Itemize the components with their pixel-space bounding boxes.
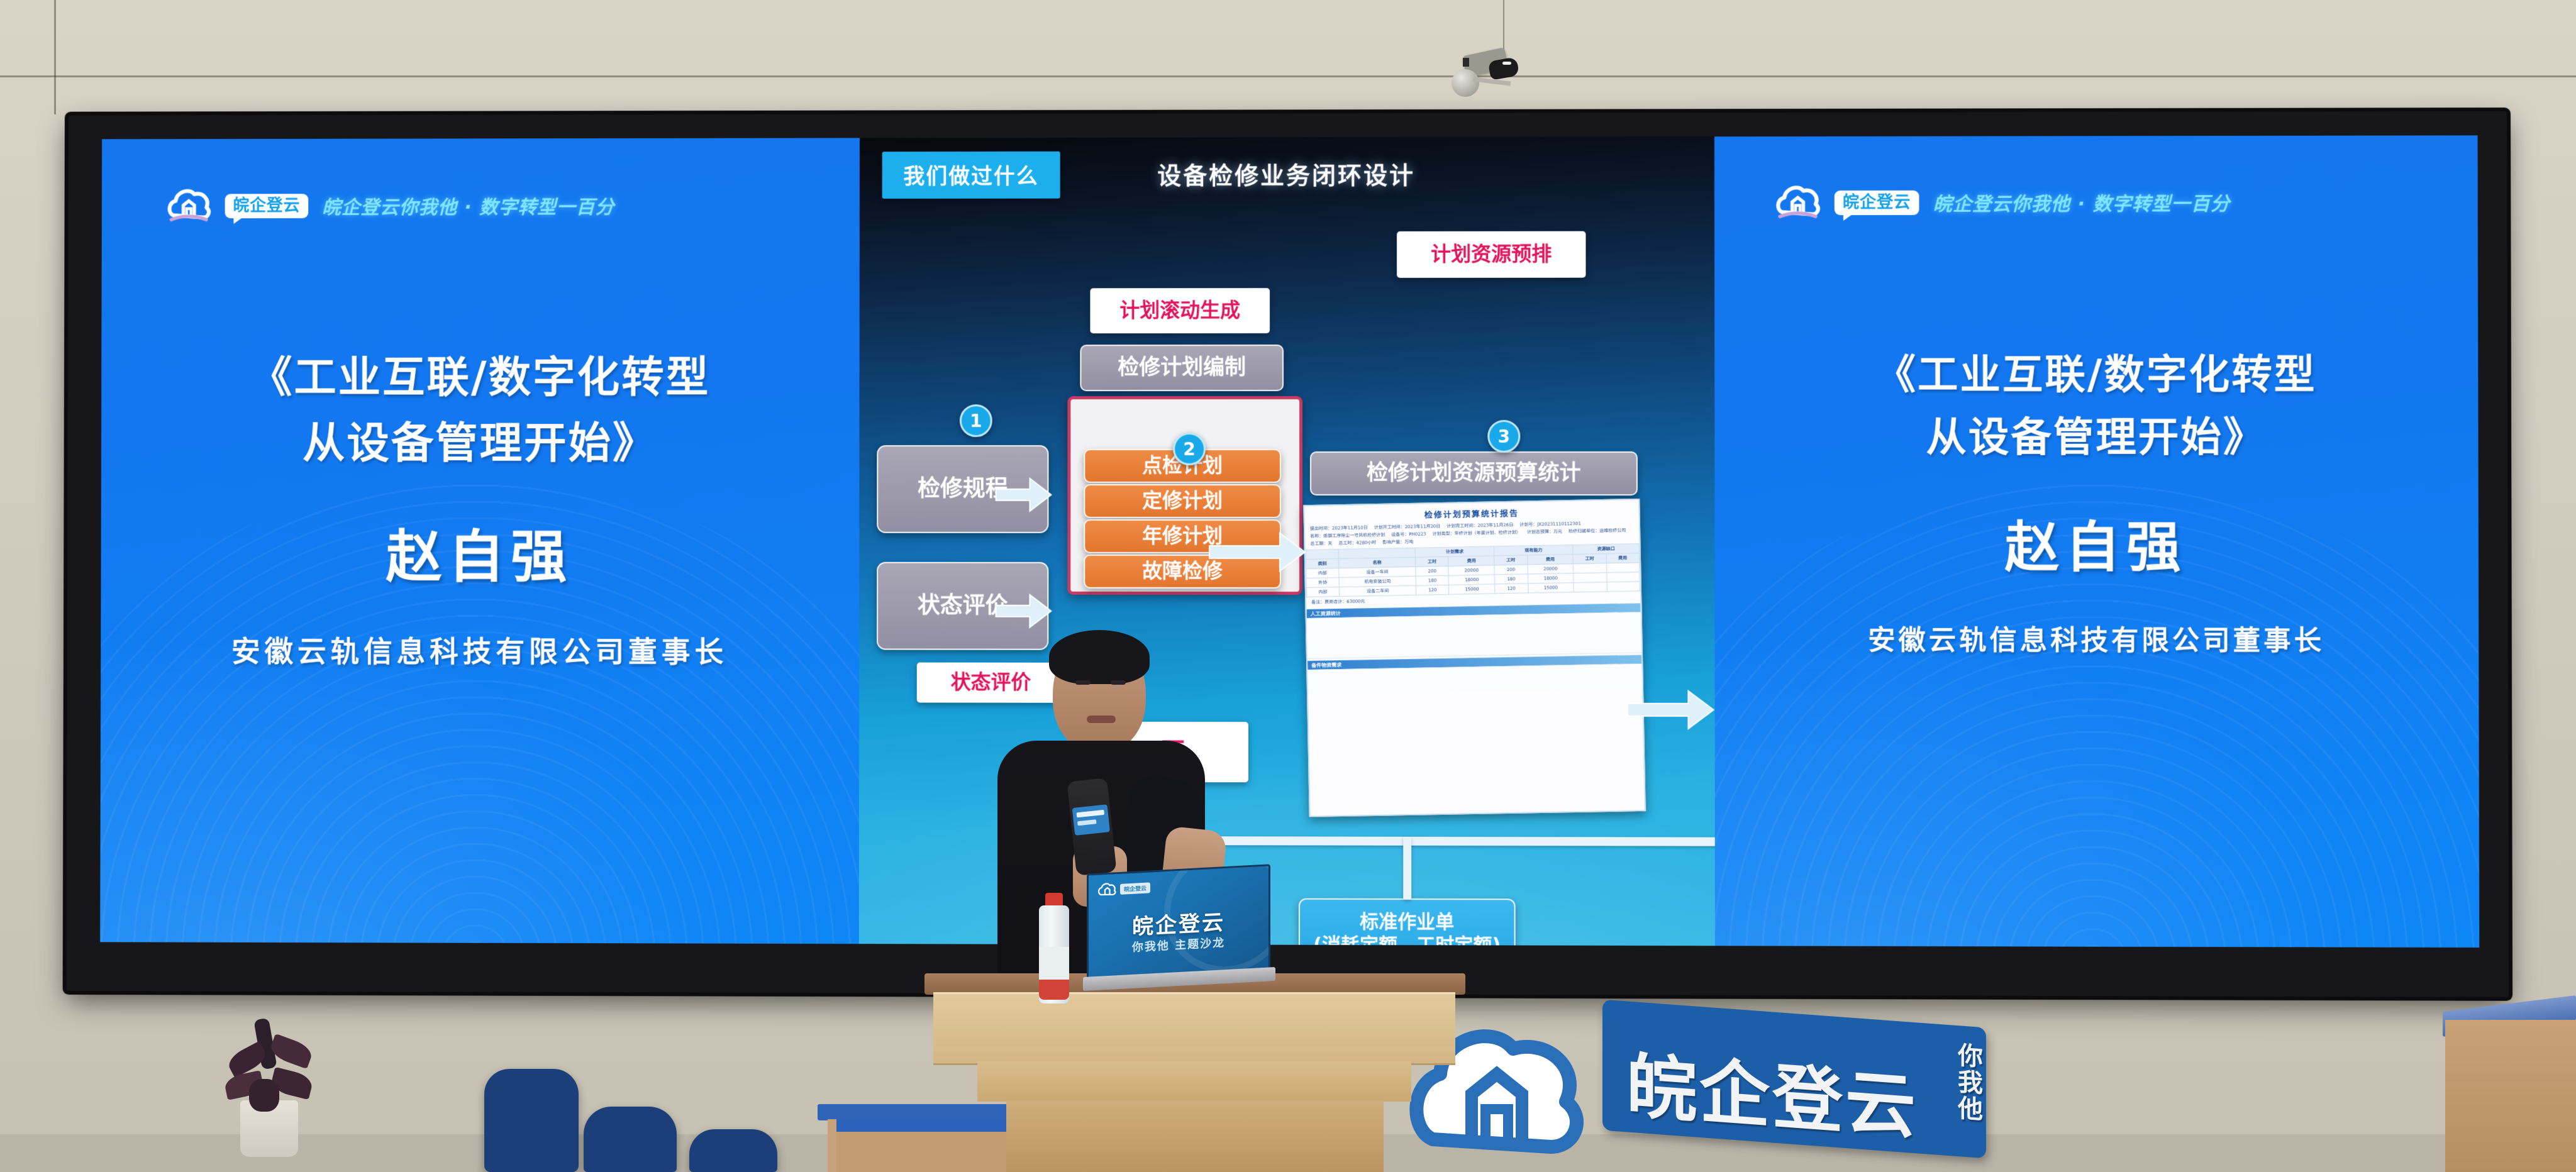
wall-seam-vertical-left (54, 0, 56, 114)
step-badge-3: 3 (1487, 420, 1520, 453)
right-panel-brand-row: 皖企登云 皖企登云你我他 · 数字转型一百分 (1775, 182, 2230, 222)
right-panel-speaker-name: 赵自强 (1714, 504, 2479, 583)
screenshot-root: 皖企登云 皖企登云你我他 · 数字转型一百分 《工业互联/数字化转型 从设备管理… (0, 0, 2576, 1172)
potted-plant (208, 1012, 333, 1157)
step-badge-2: 2 (1173, 433, 1206, 465)
audience-table-right (2428, 1003, 2576, 1172)
podium-front-panel (933, 992, 1455, 1065)
cloud-logo-icon (167, 187, 211, 226)
left-panel-brand-row: 皖企登云 皖企登云你我他 · 数字转型一百分 (167, 186, 615, 226)
podium-base (1006, 1100, 1384, 1172)
conference-chair-1 (484, 1069, 579, 1172)
cloud-logo-icon (1775, 183, 1820, 222)
led-video-wall: 皖企登云 皖企登云你我他 · 数字转型一百分 《工业互联/数字化转型 从设备管理… (67, 111, 2509, 997)
brand-tagline: 皖企登云你我他 · 数字转型一百分 (322, 192, 614, 219)
step-badge-1: 1 (960, 404, 992, 437)
left-panel-title-line2: 从设备管理开始》 (101, 411, 860, 477)
led-screen-content: 皖企登云 皖企登云你我他 · 数字转型一百分 《工业互联/数字化转型 从设备管理… (100, 135, 2479, 948)
wall-brand-sign: 皖企登云 你我他 (1402, 1003, 2044, 1172)
wooden-podium (924, 973, 1465, 1172)
right-panel-title-line2: 从设备管理开始》 (1714, 407, 2478, 470)
slide-title: 设备检修业务闭环设计 (860, 155, 1714, 191)
security-camera-icon (1440, 49, 1522, 99)
brand-tagline: 皖企登云你我他 · 数字转型一百分 (1933, 188, 2231, 216)
left-panel-body: 《工业互联/数字化转型 从设备管理开始》 赵自强 安徽云轨信息科技有限公司董事长 (101, 345, 859, 670)
presenter-hair (1049, 630, 1150, 684)
right-panel-body: 《工业互联/数字化转型 从设备管理开始》 赵自强 安徽云轨信息科技有限公司董事长 (1714, 344, 2479, 658)
right-panel-title-line1: 《工业互联/数字化转型 (1714, 344, 2478, 407)
podium-mid-panel (977, 1061, 1411, 1102)
brand-chip: 皖企登云 (1835, 190, 1919, 214)
left-title-panel: 皖企登云 皖企登云你我他 · 数字转型一百分 《工业互联/数字化转型 从设备管理… (100, 138, 860, 944)
presenter-laptop: 皖企登云 皖企登云 你我他 主题沙龙 (1087, 869, 1275, 992)
conference-chair-3 (689, 1129, 777, 1172)
laptop-screen: 皖企登云 皖企登云 你我他 主题沙龙 (1087, 864, 1270, 985)
conference-chair-2 (584, 1107, 677, 1172)
brand-chip: 皖企登云 (225, 194, 309, 218)
wall-sign-main-text: 皖企登云 (1626, 1029, 1918, 1153)
right-panel-speaker-org: 安徽云轨信息科技有限公司董事长 (1715, 619, 2479, 658)
water-bottle (1036, 893, 1072, 1003)
left-panel-speaker-name: 赵自强 (101, 511, 859, 592)
wall-sign-side-text: 你我他 (1950, 1041, 1986, 1123)
wall-seam-horizontal (0, 75, 2576, 77)
laptop-brand-chip: 皖企登云 (1120, 882, 1150, 895)
left-panel-speaker-org: 安徽云轨信息科技有限公司董事长 (101, 628, 859, 670)
right-title-panel: 皖企登云 皖企登云你我他 · 数字转型一百分 《工业互联/数字化转型 从设备管理… (1714, 135, 2479, 948)
left-panel-title-line1: 《工业互联/数字化转型 (101, 345, 859, 411)
